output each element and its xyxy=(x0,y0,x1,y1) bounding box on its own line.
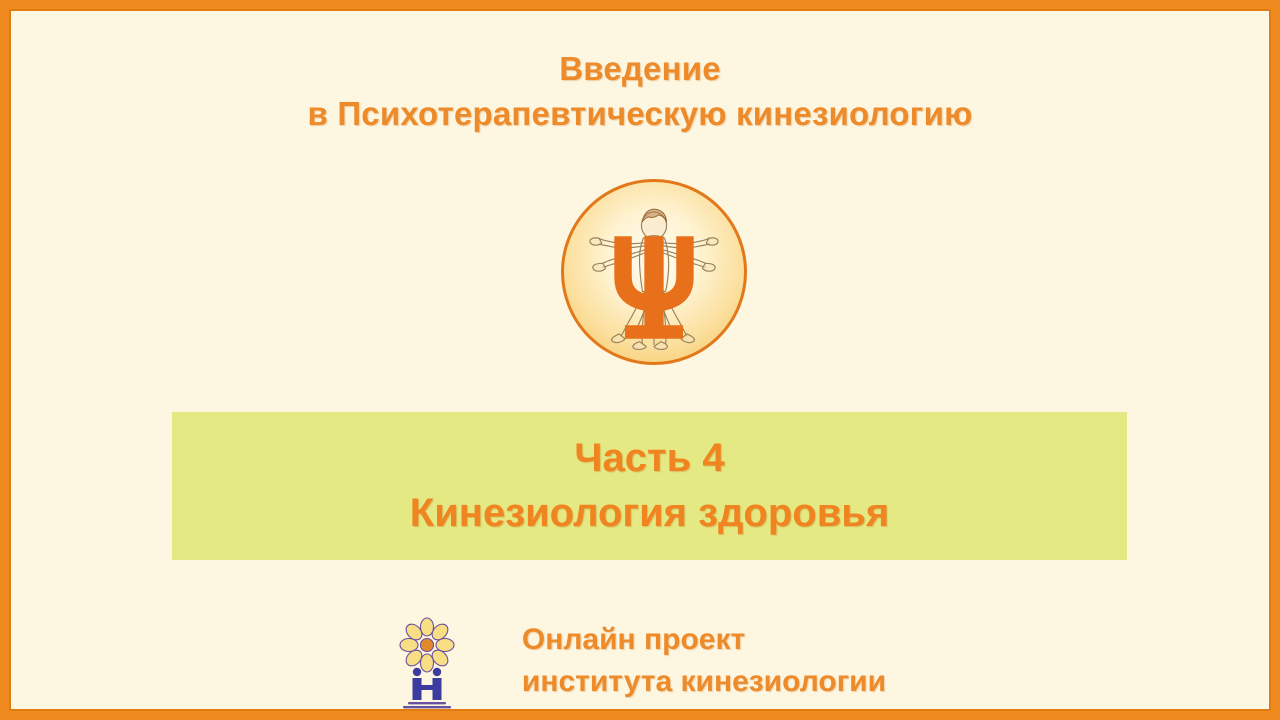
footer-line-1: Онлайн проект xyxy=(522,619,886,661)
slide-title: Введение в Психотерапевтическую кинезиол… xyxy=(9,47,1271,137)
part-title-label: Кинезиология здоровья xyxy=(410,485,889,541)
title-line-1: Введение xyxy=(9,47,1271,91)
title-line-2: в Психотерапевтическую кинезиологию xyxy=(9,91,1271,137)
psi-symbol-icon xyxy=(564,182,744,362)
part-highlight-box: Часть 4 Кинезиология здоровья xyxy=(172,412,1127,560)
two-figures-h-icon xyxy=(412,668,441,700)
logo-circle-background xyxy=(561,179,747,365)
institute-logo-caption xyxy=(403,702,451,708)
footer-text-block: Онлайн проект института кинезиологии xyxy=(522,619,886,703)
flower-icon xyxy=(400,618,454,672)
psi-logo xyxy=(561,179,747,365)
institute-logo-icon xyxy=(394,613,460,709)
footer-line-2: института кинезиологии xyxy=(522,661,886,703)
slide-footer: Онлайн проект института кинезиологии xyxy=(9,613,1271,709)
presentation-slide: Введение в Психотерапевтическую кинезиол… xyxy=(0,0,1280,720)
part-number-label: Часть 4 xyxy=(574,431,724,485)
